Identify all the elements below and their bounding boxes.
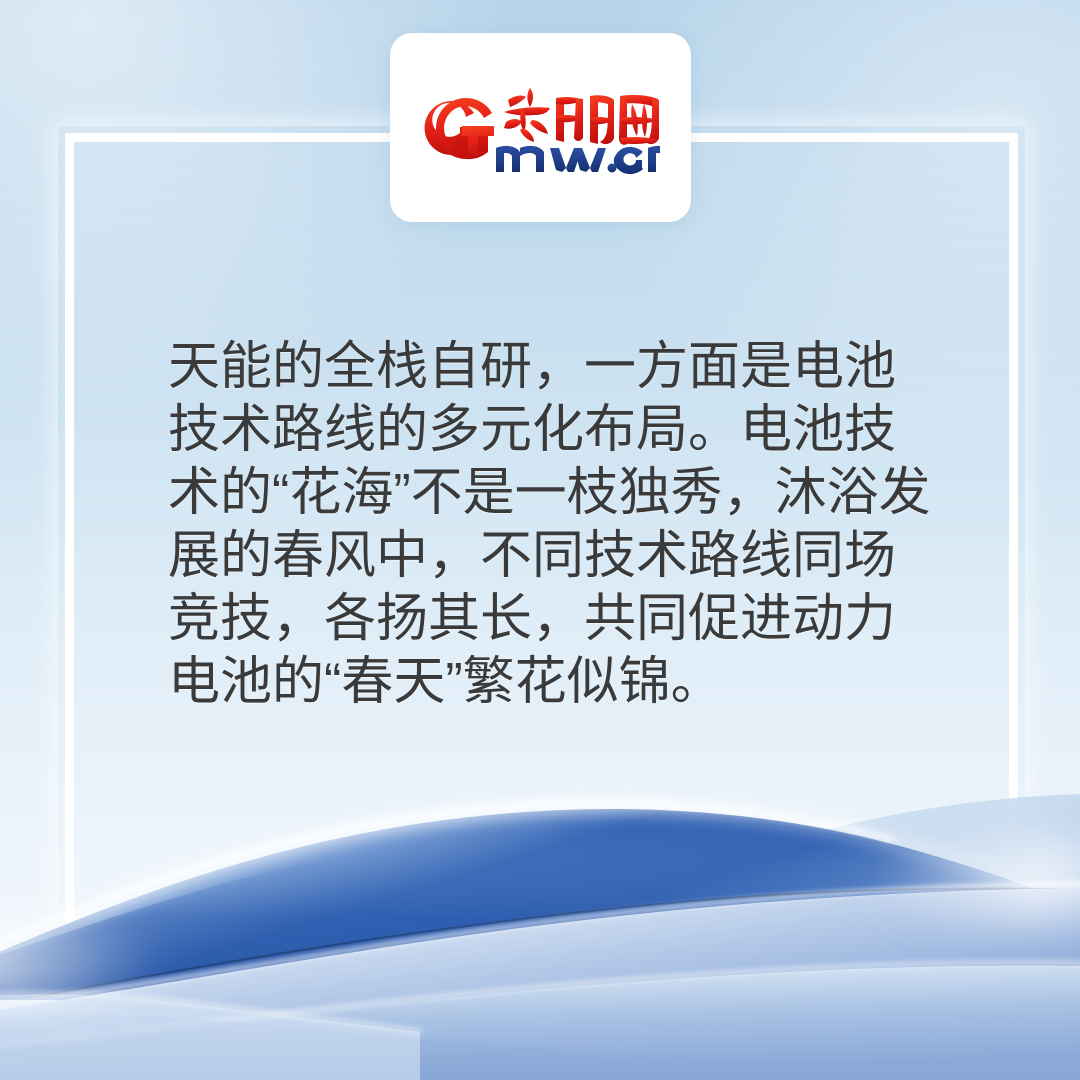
brand-logo-icon	[422, 80, 660, 176]
logo-g-monogram	[424, 97, 493, 158]
logo-domain-text	[496, 145, 660, 173]
brand-logo	[422, 80, 660, 176]
quote-text: 天能的全栈自研，一方面是电池技术路线的多元化布局。电池技术的“花海”不是一枝独秀…	[168, 336, 940, 714]
logo-chinese-characters	[504, 88, 659, 145]
poster-canvas: 天能的全栈自研，一方面是电池技术路线的多元化布局。电池技术的“花海”不是一枝独秀…	[0, 0, 1080, 1080]
decorative-wave-graphic	[0, 750, 1080, 1080]
logo-card[interactable]	[390, 33, 691, 222]
